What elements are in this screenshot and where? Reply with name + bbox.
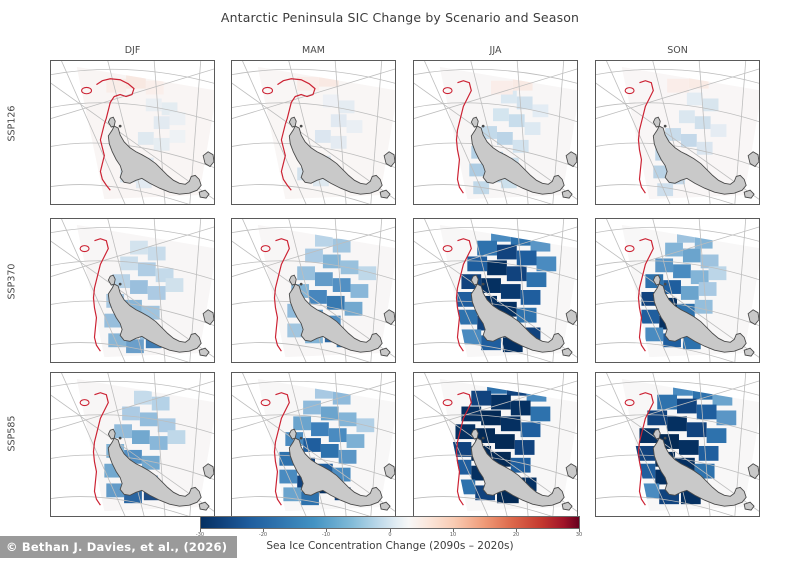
row-label-ssp370: SSP370 [7,207,18,357]
map-panel-ssp126-mam[interactable] [231,60,396,205]
map-panel-ssp370-djf[interactable] [50,218,215,363]
colorbar-ticklabel-1: -20 [248,532,278,538]
column-header-son: SON [595,45,760,56]
colorbar [200,516,580,529]
map-panel-ssp370-jja[interactable] [413,218,578,363]
colorbar-label: Sea Ice Concentration Change (2090s – 20… [180,540,600,552]
map-panel-ssp126-son[interactable] [595,60,760,205]
column-header-djf: DJF [50,45,215,56]
map-panel-ssp585-jja[interactable] [413,372,578,517]
map-panel-ssp585-djf[interactable] [50,372,215,517]
figure-canvas: Antarctic Peninsula SIC Change by Scenar… [0,0,800,562]
row-label-ssp585: SSP585 [7,359,18,509]
colorbar-ticklabel-2: -10 [311,532,341,538]
credit-banner: © Bethan J. Davies, et al., (2026) [0,536,237,558]
map-panel-ssp370-mam[interactable] [231,218,396,363]
map-panel-ssp126-jja[interactable] [413,60,578,205]
map-panel-ssp585-mam[interactable] [231,372,396,517]
colorbar-ticklabel-5: 20 [501,532,531,538]
colorbar-ticklabel-3: 0 [375,532,405,538]
row-label-ssp126: SSP126 [7,49,18,199]
colorbar-ticklabel-4: 10 [438,532,468,538]
colorbar-ticklabel-6: 30 [564,532,594,538]
map-panel-ssp126-djf[interactable] [50,60,215,205]
map-panel-ssp370-son[interactable] [595,218,760,363]
colorbar-gradient [200,516,580,529]
column-header-mam: MAM [231,45,396,56]
column-header-jja: JJA [413,45,578,56]
page-title: Antarctic Peninsula SIC Change by Scenar… [0,10,800,25]
map-panel-ssp585-son[interactable] [595,372,760,517]
